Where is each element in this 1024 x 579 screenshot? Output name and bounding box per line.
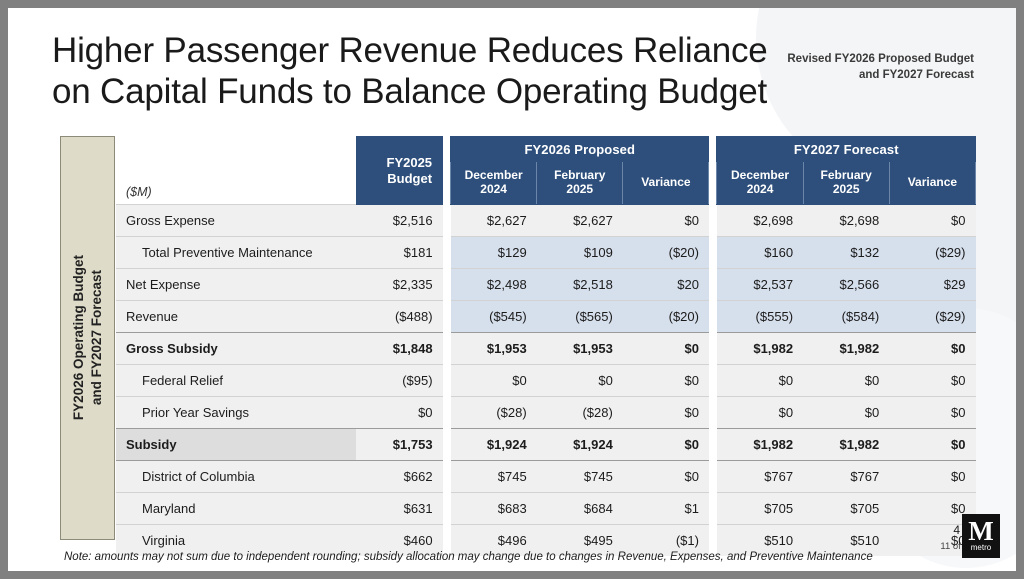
cell-fy2027-variance: $0 xyxy=(889,397,975,429)
cell-fy2026-february: $0 xyxy=(537,365,623,397)
cell-fy2027-december: $0 xyxy=(717,365,803,397)
cell-fy2026-december: $683 xyxy=(451,493,537,525)
row-gap-1 xyxy=(443,237,451,269)
cell-fy2026-december: $745 xyxy=(451,461,537,493)
cell-fy2025-budget: $662 xyxy=(356,461,442,493)
cell-fy2027-december: ($555) xyxy=(717,301,803,333)
cell-fy2027-february: $132 xyxy=(803,237,889,269)
metro-logo: M metro xyxy=(962,514,1000,558)
cell-fy2026-december: $1,953 xyxy=(451,333,537,365)
cell-fy2026-february: ($565) xyxy=(537,301,623,333)
cell-fy2027-december: $767 xyxy=(717,461,803,493)
header-dec-line2-a: 2024 xyxy=(480,182,507,196)
cell-fy2026-december: $129 xyxy=(451,237,537,269)
subtitle-line-1: Revised FY2026 Proposed Budget xyxy=(744,52,974,68)
header-group-fy2026: FY2026 Proposed xyxy=(451,137,709,162)
row-label: District of Columbia xyxy=(116,461,356,493)
cell-fy2025-budget: $181 xyxy=(356,237,442,269)
cell-fy2025-budget: $2,516 xyxy=(356,205,442,237)
cell-fy2026-december: $2,498 xyxy=(451,269,537,301)
metro-logo-word: metro xyxy=(971,544,991,552)
cell-fy2026-variance: $0 xyxy=(623,397,709,429)
budget-table-wrapper: FY2025 Budget FY2026 Proposed FY2027 For… xyxy=(116,136,976,540)
row-label: Revenue xyxy=(116,301,356,333)
row-gap-1 xyxy=(443,269,451,301)
header-fy2027-february: February 2025 xyxy=(803,162,889,205)
row-gap-1 xyxy=(443,397,451,429)
cell-fy2026-december: $1,924 xyxy=(451,429,537,461)
cell-fy2027-february: $0 xyxy=(803,365,889,397)
cell-fy2027-december: $705 xyxy=(717,493,803,525)
vertical-tab-line-1: FY2026 Operating Budget xyxy=(71,255,86,420)
cell-fy2025-budget: $1,848 xyxy=(356,333,442,365)
header-spacer xyxy=(116,137,356,162)
header-feb-line2-b: 2025 xyxy=(833,182,860,196)
table-row: Maryland$631$683$684$1$705$705$0 xyxy=(116,493,976,525)
cell-fy2026-variance: $0 xyxy=(623,365,709,397)
row-label: Subsidy xyxy=(116,429,356,461)
cell-fy2026-february: $1,924 xyxy=(537,429,623,461)
row-label: Maryland xyxy=(116,493,356,525)
cell-fy2025-budget: $0 xyxy=(356,397,442,429)
cell-fy2027-variance: $0 xyxy=(889,205,975,237)
header-feb-line2-a: 2025 xyxy=(566,182,593,196)
cell-fy2026-december: ($28) xyxy=(451,397,537,429)
row-gap-2 xyxy=(709,333,717,365)
row-label: Gross Subsidy xyxy=(116,333,356,365)
header-dec-line2-b: 2024 xyxy=(747,182,774,196)
header-fy2027-december: December 2024 xyxy=(717,162,803,205)
table-row: Total Preventive Maintenance$181$129$109… xyxy=(116,237,976,269)
row-gap-2 xyxy=(709,461,717,493)
cell-fy2026-february: $745 xyxy=(537,461,623,493)
row-label: Net Expense xyxy=(116,269,356,301)
cell-fy2025-budget: ($95) xyxy=(356,365,442,397)
cell-fy2027-february: ($584) xyxy=(803,301,889,333)
header-sub-row: ($M) December 2024 February 2025 Varianc… xyxy=(116,162,976,205)
vertical-tab-line-2: and FY2027 Forecast xyxy=(89,270,104,405)
cell-fy2026-variance: $0 xyxy=(623,461,709,493)
footnote: Note: amounts may not sum due to indepen… xyxy=(64,551,914,563)
table-header: FY2025 Budget FY2026 Proposed FY2027 For… xyxy=(116,137,976,205)
header-gap-2 xyxy=(709,137,717,162)
cell-fy2027-december: $0 xyxy=(717,397,803,429)
vertical-section-tab: FY2026 Operating Budget and FY2027 Forec… xyxy=(60,136,115,540)
row-gap-2 xyxy=(709,237,717,269)
header-dec-line1-b: December xyxy=(731,168,789,182)
cell-fy2027-december: $2,698 xyxy=(717,205,803,237)
row-gap-2 xyxy=(709,365,717,397)
header-fy2025-line1: FY2025 xyxy=(387,155,433,170)
row-gap-1 xyxy=(443,333,451,365)
cell-fy2026-february: $1,953 xyxy=(537,333,623,365)
row-gap-2 xyxy=(709,493,717,525)
cell-fy2026-december: $2,627 xyxy=(451,205,537,237)
cell-fy2025-budget: $631 xyxy=(356,493,442,525)
table-row: Subsidy$1,753$1,924$1,924$0$1,982$1,982$… xyxy=(116,429,976,461)
cell-fy2027-variance: ($29) xyxy=(889,237,975,269)
cell-fy2026-variance: ($20) xyxy=(623,237,709,269)
row-label: Gross Expense xyxy=(116,205,356,237)
header-fy2027-variance: Variance xyxy=(889,162,975,205)
table-row: Gross Expense$2,516$2,627$2,627$0$2,698$… xyxy=(116,205,976,237)
slide: Higher Passenger Revenue Reduces Relianc… xyxy=(8,8,1016,571)
cell-fy2027-february: $0 xyxy=(803,397,889,429)
row-gap-2 xyxy=(709,205,717,237)
table-row: Prior Year Savings$0($28)($28)$0$0$0$0 xyxy=(116,397,976,429)
slide-subtitle: Revised FY2026 Proposed Budget and FY202… xyxy=(744,52,974,83)
row-gap-2 xyxy=(709,429,717,461)
table-row: Federal Relief($95)$0$0$0$0$0$0 xyxy=(116,365,976,397)
cell-fy2027-variance: ($29) xyxy=(889,301,975,333)
cell-fy2025-budget: ($488) xyxy=(356,301,442,333)
cell-fy2027-february: $705 xyxy=(803,493,889,525)
row-label: Total Preventive Maintenance xyxy=(116,237,356,269)
cell-fy2027-february: $2,698 xyxy=(803,205,889,237)
cell-fy2025-budget: $1,753 xyxy=(356,429,442,461)
row-gap-1 xyxy=(443,429,451,461)
cell-fy2026-variance: $0 xyxy=(623,429,709,461)
cell-fy2027-february: $2,566 xyxy=(803,269,889,301)
cell-fy2026-variance: $0 xyxy=(623,205,709,237)
row-gap-1 xyxy=(443,493,451,525)
cell-fy2027-variance: $0 xyxy=(889,429,975,461)
cell-fy2026-december: $0 xyxy=(451,365,537,397)
row-gap-2 xyxy=(709,301,717,333)
header-fy2025-budget: FY2025 Budget xyxy=(356,137,442,205)
vertical-section-tab-text: FY2026 Operating Budget and FY2027 Forec… xyxy=(70,255,105,420)
cell-fy2026-variance: $20 xyxy=(623,269,709,301)
cell-fy2026-february: ($28) xyxy=(537,397,623,429)
cell-fy2027-december: $160 xyxy=(717,237,803,269)
cell-fy2026-variance: $1 xyxy=(623,493,709,525)
cell-fy2027-december: $1,982 xyxy=(717,333,803,365)
header-fy2026-december: December 2024 xyxy=(451,162,537,205)
cell-fy2027-december: $1,982 xyxy=(717,429,803,461)
row-gap-2 xyxy=(709,269,717,301)
row-gap-1 xyxy=(443,301,451,333)
cell-fy2027-variance: $29 xyxy=(889,269,975,301)
cell-fy2027-february: $767 xyxy=(803,461,889,493)
header-dec-line1-a: December xyxy=(465,168,523,182)
row-gap-2 xyxy=(709,397,717,429)
header-feb-line1-b: February xyxy=(821,168,872,182)
header-group-row: FY2025 Budget FY2026 Proposed FY2027 For… xyxy=(116,137,976,162)
table-row: Gross Subsidy$1,848$1,953$1,953$0$1,982$… xyxy=(116,333,976,365)
header-fy2026-february: February 2025 xyxy=(537,162,623,205)
table-body: Gross Expense$2,516$2,627$2,627$0$2,698$… xyxy=(116,205,976,557)
cell-fy2026-december: ($545) xyxy=(451,301,537,333)
header-fy2025-line2: Budget xyxy=(387,171,432,186)
cell-fy2027-december: $2,537 xyxy=(717,269,803,301)
cell-fy2027-february: $1,982 xyxy=(803,333,889,365)
cell-fy2026-february: $109 xyxy=(537,237,623,269)
subtitle-line-2: and FY2027 Forecast xyxy=(744,68,974,84)
header-fy2026-variance: Variance xyxy=(623,162,709,205)
table-row: Net Expense$2,335$2,498$2,518$20$2,537$2… xyxy=(116,269,976,301)
row-label: Federal Relief xyxy=(116,365,356,397)
cell-fy2026-february: $2,518 xyxy=(537,269,623,301)
budget-table: FY2025 Budget FY2026 Proposed FY2027 For… xyxy=(116,136,976,556)
table-row: District of Columbia$662$745$745$0$767$7… xyxy=(116,461,976,493)
cell-fy2026-february: $684 xyxy=(537,493,623,525)
row-gap-1 xyxy=(443,205,451,237)
cell-fy2027-february: $1,982 xyxy=(803,429,889,461)
unit-label: ($M) xyxy=(116,162,356,205)
header-group-fy2027: FY2027 Forecast xyxy=(717,137,976,162)
cell-fy2025-budget: $2,335 xyxy=(356,269,442,301)
cell-fy2026-variance: $0 xyxy=(623,333,709,365)
header-gap-1 xyxy=(443,137,451,162)
page-number: 4 xyxy=(953,523,960,537)
header-gap-3 xyxy=(443,162,451,205)
cell-fy2027-variance: $0 xyxy=(889,461,975,493)
row-gap-1 xyxy=(443,461,451,493)
row-label: Prior Year Savings xyxy=(116,397,356,429)
row-gap-1 xyxy=(443,365,451,397)
cell-fy2027-variance: $0 xyxy=(889,333,975,365)
table-row: Revenue($488)($545)($565)($20)($555)($58… xyxy=(116,301,976,333)
cell-fy2026-variance: ($20) xyxy=(623,301,709,333)
metro-logo-letter: M xyxy=(968,520,993,543)
cell-fy2026-february: $2,627 xyxy=(537,205,623,237)
header-feb-line1-a: February xyxy=(554,168,605,182)
cell-fy2027-variance: $0 xyxy=(889,365,975,397)
header-gap-4 xyxy=(709,162,717,205)
slide-title: Higher Passenger Revenue Reduces Relianc… xyxy=(52,30,792,113)
